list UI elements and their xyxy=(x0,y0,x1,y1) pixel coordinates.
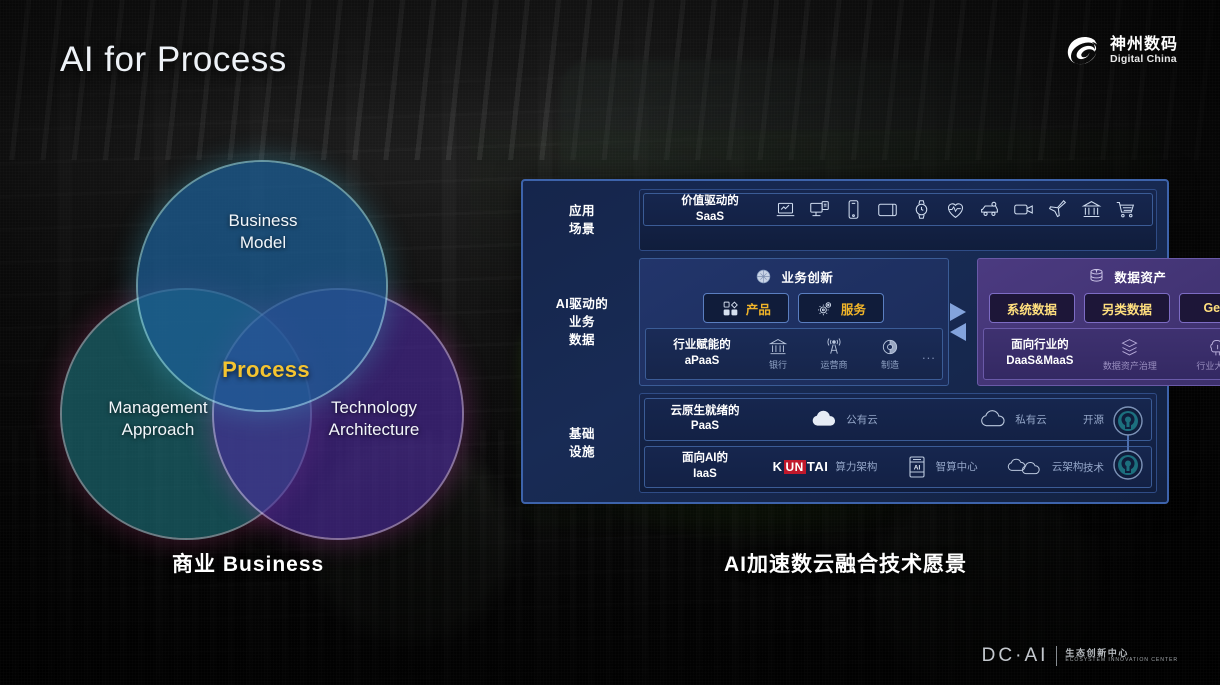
paas-label-private-cloud: 私有云 xyxy=(1015,412,1047,427)
band-label-ai-data: AI驱动的 业务 数据 xyxy=(533,258,631,386)
business-innovation-title: 业务创新 xyxy=(781,267,833,286)
apaas-caption: 行业赋能的 aPaaS xyxy=(656,338,748,369)
apaas-label-manufacturing: 制造 xyxy=(881,358,899,371)
apaas-item-telecom: 运营商 xyxy=(808,337,860,371)
iaas-label-datacenter: 智算中心 xyxy=(936,459,978,474)
venn-diagram: Business Model Management Approach Techn… xyxy=(62,162,462,524)
business-innovation-chips: 产品 服务 xyxy=(645,293,943,323)
tv-screen-icon xyxy=(877,199,898,220)
smart-watch-icon xyxy=(911,199,932,220)
arrow-right-icon xyxy=(950,303,966,321)
daas-maas-caption: 面向行业的 DaaS&MaaS xyxy=(994,338,1086,369)
footer-center-en: ECOSYSTEM INNOVATION CENTER xyxy=(1065,658,1178,664)
chip-product[interactable]: 产品 xyxy=(703,293,789,323)
neural-cluster-icon xyxy=(754,267,773,286)
architecture-panel: 应用 场景 价值驱动的 SaaS xyxy=(521,179,1169,504)
data-asset-panel: 数据资产 系统数据 另类数据 GenAI 面向行业的 DaaS&MaaS 数据资… xyxy=(977,258,1220,386)
apaas-item-manufacturing: 制造 xyxy=(864,337,916,371)
daas-maas-row: 面向行业的 DaaS&MaaS 数据资产治理 行业大模型 AI xyxy=(983,328,1220,380)
finance-laptop-icon xyxy=(775,199,796,220)
mobile-phone-icon xyxy=(843,199,864,220)
venn-label-technology: Technology Architecture xyxy=(294,397,454,441)
technology-badge-icon xyxy=(1112,449,1144,481)
caption-ai-vision: AI加速数云融合技术愿景 xyxy=(724,548,967,578)
bank-icon xyxy=(768,337,788,357)
band-label-application: 应用 场景 xyxy=(533,189,631,251)
video-camera-icon xyxy=(1013,199,1034,220)
digital-china-swirl-icon xyxy=(1065,34,1101,68)
scenario-row: 价值驱动的 SaaS xyxy=(643,193,1153,226)
paas-caption: 云原生就绪的 PaaS xyxy=(655,404,755,435)
data-asset-title: 数据资产 xyxy=(1114,267,1166,286)
brain-ai-icon xyxy=(1208,337,1220,358)
chip-alternative-data[interactable]: 另类数据 xyxy=(1084,293,1170,323)
venn-label-management: Management Approach xyxy=(74,397,242,441)
badge-label-open-source: 开源 xyxy=(1083,412,1104,427)
private-cloud-icon xyxy=(978,409,1008,429)
data-layers-icon xyxy=(1119,337,1140,358)
kuntai-pre: K xyxy=(773,459,783,474)
venn-label-process: Process xyxy=(186,357,346,383)
kuntai-post: TAI xyxy=(807,459,828,474)
iaas-item-datacenter: AI 智算中心 xyxy=(905,455,978,479)
venn-label-business: Business Model xyxy=(188,210,338,254)
apaas-row: 行业赋能的 aPaaS 银行 运营商 制造 . xyxy=(645,328,943,380)
arrow-left-icon xyxy=(950,323,966,341)
multi-cloud-icon xyxy=(1005,457,1045,477)
business-innovation-header: 业务创新 xyxy=(645,264,943,288)
manufacturing-gear-icon xyxy=(880,337,900,357)
scenario-caption: 价值驱动的 SaaS xyxy=(662,194,758,225)
chip-service[interactable]: 服务 xyxy=(798,293,884,323)
chip-genai[interactable]: GenAI xyxy=(1179,293,1220,323)
brand-logo: 神州数码 Digital China xyxy=(1065,34,1178,68)
side-badges xyxy=(1106,399,1150,487)
footer-logo: DC·AI 生态创新中心 ECOSYSTEM INNOVATION CENTER xyxy=(982,645,1178,667)
footer-dcai-mark: DC·AI xyxy=(982,645,1049,667)
iaas-label-compute: 算力架构 xyxy=(835,459,877,474)
apaas-item-bank: 银行 xyxy=(752,337,804,371)
business-innovation-panel: 业务创新 产品 服务 行业赋能的 aPaaS xyxy=(639,258,949,386)
caption-business: 商业 Business xyxy=(172,548,324,578)
daas-item-industry-model: 行业大模型 AI xyxy=(1174,337,1220,372)
health-heart-icon xyxy=(945,199,966,220)
badge-label-technology: 技术 xyxy=(1083,460,1104,475)
public-cloud-icon xyxy=(809,409,839,429)
database-icon xyxy=(1087,267,1106,286)
shopping-cart-icon xyxy=(1115,199,1136,220)
band-application-scenario: 应用 场景 价值驱动的 SaaS xyxy=(533,189,1157,251)
band-infrastructure: 基础 设施 云原生就绪的 PaaS 公有云 私有云 xyxy=(533,393,1157,493)
bank-icon xyxy=(1081,199,1102,220)
apaas-ellipsis: ... xyxy=(922,347,936,362)
chip-alternative-data-label: 另类数据 xyxy=(1102,299,1152,318)
ai-datacenter-icon: AI xyxy=(905,455,929,479)
band1-box: 价值驱动的 SaaS xyxy=(639,189,1157,251)
chip-service-label: 服务 xyxy=(841,299,866,318)
paas-item-private-cloud: 私有云 xyxy=(978,409,1047,429)
paas-label-public-cloud: 公有云 xyxy=(846,412,878,427)
retail-pos-icon xyxy=(809,199,830,220)
infrastructure-box: 云原生就绪的 PaaS 公有云 私有云 面向AI的 IaaS xyxy=(639,393,1157,493)
footer-divider xyxy=(1056,646,1057,666)
apaas-label-bank: 银行 xyxy=(769,358,787,371)
iaas-caption: 面向AI的 IaaS xyxy=(655,451,755,482)
page-title: AI for Process xyxy=(60,40,287,80)
antenna-tower-icon xyxy=(824,337,844,357)
daas-item-governance: 数据资产治理 xyxy=(1090,337,1170,372)
paas-item-public-cloud: 公有云 xyxy=(809,409,878,429)
band-ai-driven-business-data: AI驱动的 业务 数据 业务创新 产品 xyxy=(533,258,1157,386)
kuntai-logo: KUNTAI xyxy=(773,459,829,474)
brand-name-cn: 神州数码 xyxy=(1110,37,1178,54)
chip-product-label: 产品 xyxy=(746,299,771,318)
blocks-icon xyxy=(722,300,739,317)
gears-icon xyxy=(817,300,834,317)
iaas-item-cloud-arch: 云架构 xyxy=(1005,457,1084,477)
kuntai-mid: UN xyxy=(784,460,806,474)
chip-system-data[interactable]: 系统数据 xyxy=(989,293,1075,323)
open-source-badge-icon xyxy=(1112,405,1144,437)
iaas-item-compute: KUNTAI 算力架构 xyxy=(773,459,878,474)
band-label-infrastructure: 基础 设施 xyxy=(533,393,631,493)
chip-system-data-label: 系统数据 xyxy=(1007,299,1057,318)
data-asset-header: 数据资产 xyxy=(983,264,1220,288)
iaas-label-cloud-arch: 云架构 xyxy=(1052,459,1084,474)
apaas-label-telecom: 运营商 xyxy=(820,358,847,371)
svg-text:AI: AI xyxy=(913,464,920,471)
iaas-row: 面向AI的 IaaS KUNTAI 算力架构 AI 智算中心 云架构 xyxy=(644,446,1152,489)
bidirectional-arrow xyxy=(943,258,973,386)
daas-label-industry-model: 行业大模型 xyxy=(1196,359,1220,372)
brand-name-en: Digital China xyxy=(1110,54,1178,65)
scenario-icon-strip xyxy=(768,199,1142,220)
paas-row: 云原生就绪的 PaaS 公有云 私有云 xyxy=(644,398,1152,441)
airplane-icon xyxy=(1047,199,1068,220)
daas-label-governance: 数据资产治理 xyxy=(1103,359,1157,372)
automobile-icon xyxy=(979,199,1000,220)
data-asset-chips: 系统数据 另类数据 GenAI xyxy=(983,293,1220,323)
chip-genai-label: GenAI xyxy=(1203,301,1220,315)
